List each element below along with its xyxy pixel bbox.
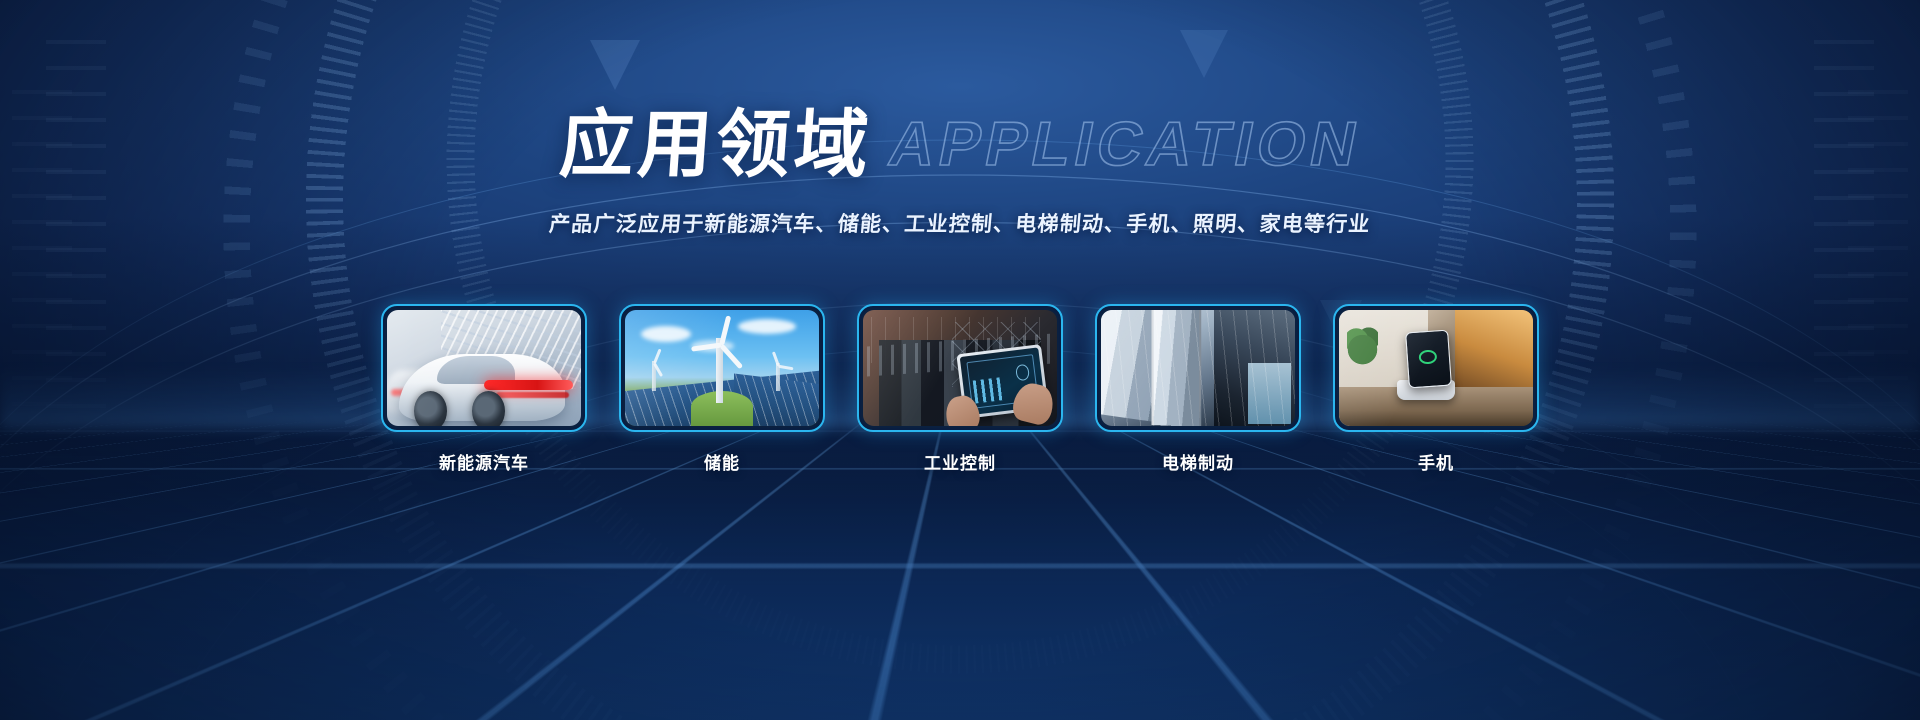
card-thumbnail[interactable] [857, 304, 1063, 432]
card-label: 手机 [1333, 449, 1539, 474]
card-thumbnail[interactable] [619, 304, 825, 432]
card-thumbnail[interactable] [381, 304, 587, 432]
mobile-phone-icon [1339, 310, 1533, 426]
industrial-control-icon [863, 310, 1057, 426]
card-label: 储能 [619, 449, 825, 474]
application-banner: 应用领域 APPLICATION 产品广泛应用于新能源汽车、储能、工业控制、电梯… [0, 0, 1920, 720]
card-label: 工业控制 [857, 449, 1063, 474]
elevator-brake-icon [1101, 310, 1295, 426]
banner-heading-block: 应用领域 APPLICATION 产品广泛应用于新能源汽车、储能、工业控制、电梯… [0, 108, 1920, 238]
page-subtitle: 产品广泛应用于新能源汽车、储能、工业控制、电梯制动、手机、照明、家电等行业 [0, 208, 1920, 238]
energy-storage-icon [625, 310, 819, 426]
application-card-list: 新能源汽车 [0, 304, 1920, 474]
application-card[interactable]: 新能源汽车 [381, 304, 587, 474]
ev-car-icon [387, 310, 581, 426]
application-card[interactable]: 电梯制动 [1095, 304, 1301, 474]
card-thumbnail[interactable] [1333, 304, 1539, 432]
triangle-decoration [590, 40, 640, 90]
application-card[interactable]: 储能 [619, 304, 825, 474]
page-title-cn: 应用领域 [557, 108, 874, 182]
triangle-decoration [1180, 30, 1228, 78]
card-thumbnail[interactable] [1095, 304, 1301, 432]
card-label: 电梯制动 [1095, 449, 1301, 474]
card-label: 新能源汽车 [381, 449, 587, 474]
application-card[interactable]: 手机 [1333, 304, 1539, 474]
application-card[interactable]: 工业控制 [857, 304, 1063, 474]
page-title-en: APPLICATION [884, 114, 1367, 176]
